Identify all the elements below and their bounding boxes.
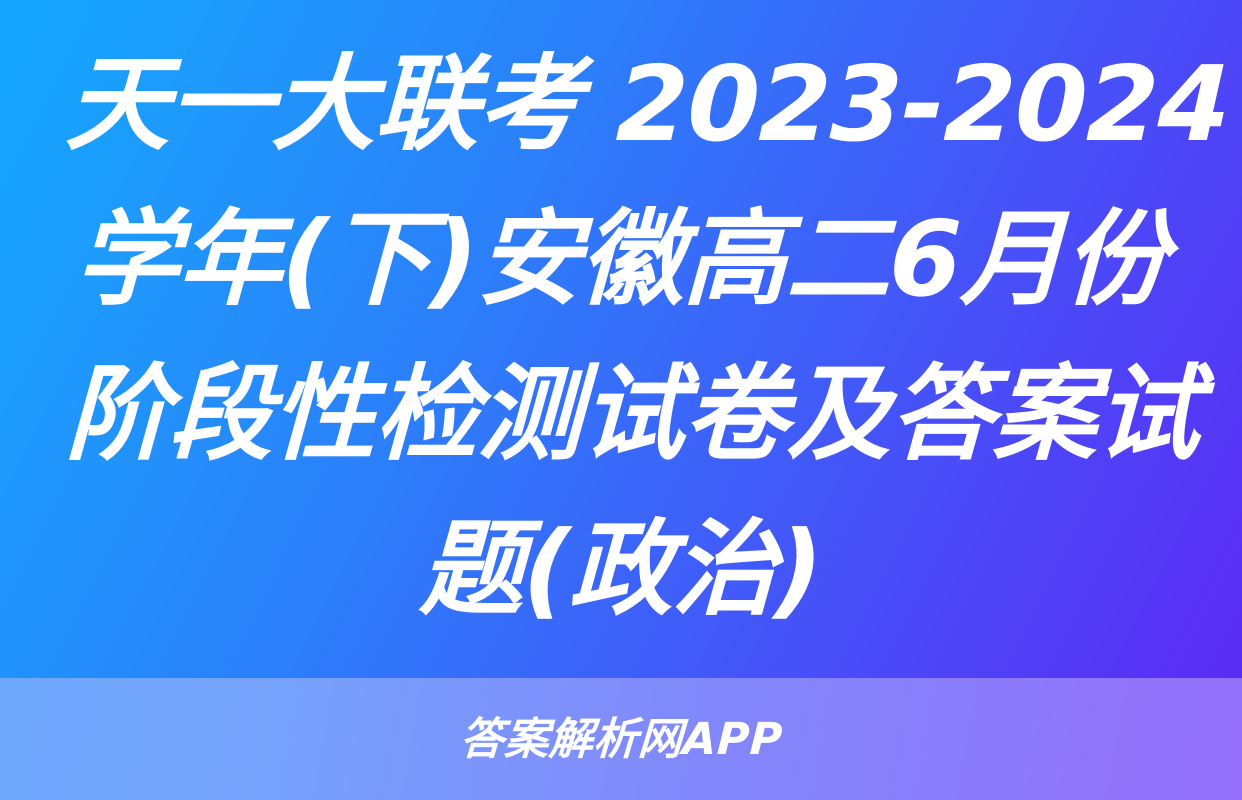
brand-label: 答案解析网APP (459, 718, 784, 762)
title-line-3: 阶段性检测试卷及答案试 (64, 337, 1178, 492)
title-line-2: 学年(下)安徽高二6月份 (64, 182, 1178, 337)
poster-root: 天一大联考 2023-2024 学年(下)安徽高二6月份 阶段性检测试卷及答案试… (0, 0, 1242, 800)
title-line-1: 天一大联考 2023-2024 (64, 27, 1178, 182)
footer-band: 答案解析网APP (0, 678, 1242, 800)
hero-banner: 天一大联考 2023-2024 学年(下)安徽高二6月份 阶段性检测试卷及答案试… (0, 0, 1242, 678)
poster-title: 天一大联考 2023-2024 学年(下)安徽高二6月份 阶段性检测试卷及答案试… (66, 27, 1176, 651)
title-line-4: 题(政治) (64, 492, 1178, 647)
